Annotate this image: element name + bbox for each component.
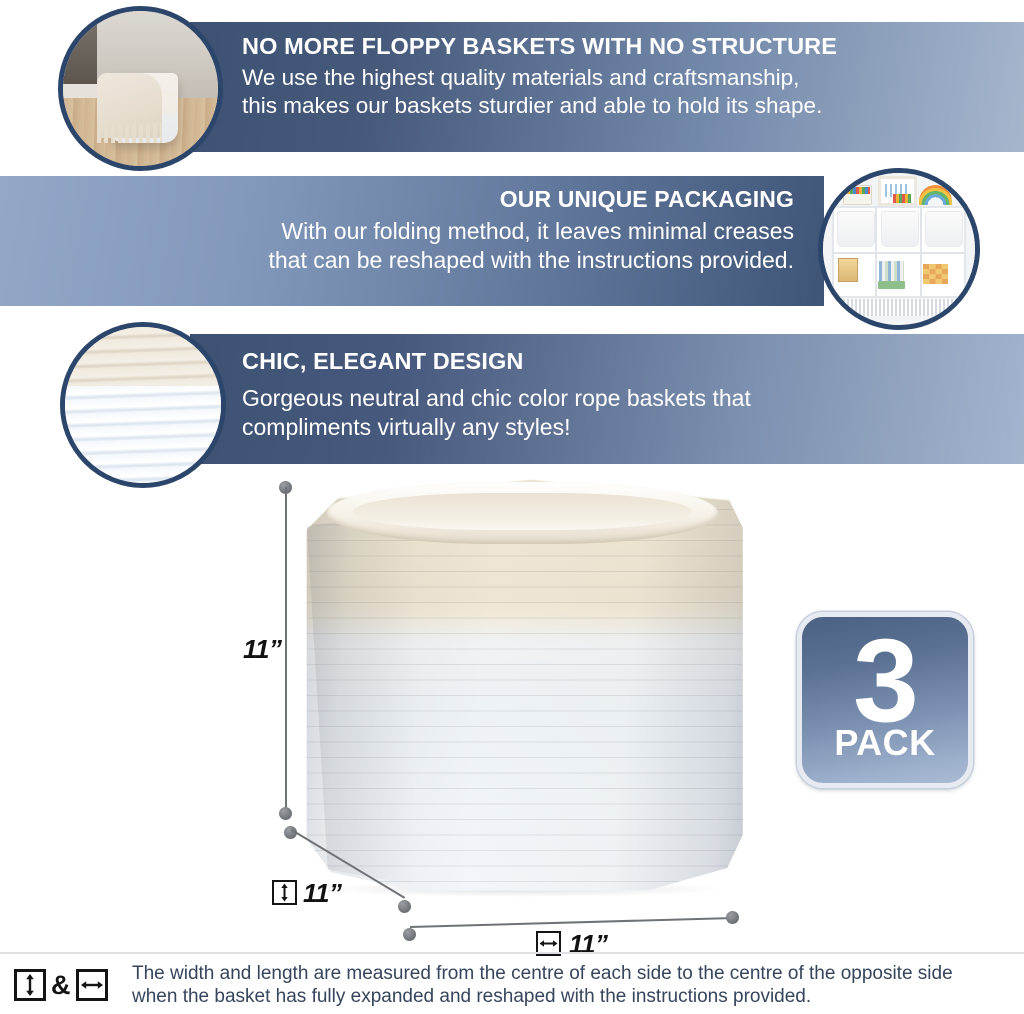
footer-icon-group: & xyxy=(14,964,122,1006)
photo-nursery-shelf xyxy=(818,168,980,330)
banner-title-structure: NO MORE FLOPPY BASKETS WITH NO STRUCTURE xyxy=(242,31,1008,61)
footer-text-line1: The width and length are measured from t… xyxy=(132,962,1012,985)
photo3-cream-rope-coils xyxy=(65,327,221,386)
footer-text-block: The width and length are measured from t… xyxy=(132,962,1012,1008)
feature-banner-structure: NO MORE FLOPPY BASKETS WITH NO STRUCTURE… xyxy=(190,22,1024,152)
photo2-shelf-divider-3 xyxy=(832,252,966,254)
photo2-wooden-toy xyxy=(838,258,858,282)
width-dim-dot-left xyxy=(403,928,416,941)
footer-width-icon xyxy=(76,969,108,1001)
photo1-blanket-fringe xyxy=(97,123,162,143)
footer-ampersand: & xyxy=(51,972,71,999)
photo-rope-texture xyxy=(60,322,226,488)
height-dim-dot-bottom xyxy=(279,807,292,820)
feature-banner-packaging: OUR UNIQUE PACKAGING With our folding me… xyxy=(0,176,824,306)
banner-body-structure-line1: We use the highest quality materials and… xyxy=(242,64,1008,92)
feature-banner-design: CHIC, ELEGANT DESIGN Gorgeous neutral an… xyxy=(190,334,1024,464)
photo2-building-blocks xyxy=(923,264,947,284)
footer-note: & The width and length are measured from… xyxy=(14,962,1014,1010)
footer-height-icon xyxy=(14,969,46,1001)
banner-title-packaging: OUR UNIQUE PACKAGING xyxy=(16,185,794,214)
footer-text-line2: when the basket has fully expanded and r… xyxy=(132,985,1012,1008)
photo2-peg-dolls xyxy=(893,194,911,203)
width-arrow-icon xyxy=(538,933,559,954)
photo2-basket-2 xyxy=(881,211,919,247)
width-dim-dot-right xyxy=(726,911,739,924)
photo1-doorway xyxy=(63,11,97,89)
footer-divider xyxy=(0,952,1024,954)
banner-body-packaging-line2: that can be reshaped with the instructio… xyxy=(16,246,794,275)
banner-body-structure-line2: this makes our baskets sturdier and able… xyxy=(242,92,1008,120)
photo3-blue-rope-coils xyxy=(65,386,221,483)
width-dim-line xyxy=(410,917,730,928)
photo-basket-with-throw xyxy=(58,6,223,171)
banner-body-packaging-line1: With our folding method, it leaves minim… xyxy=(16,217,794,246)
photo2-abacus-beads xyxy=(844,187,870,195)
pack-count-label: PACK xyxy=(834,725,935,761)
photo2-striped-rug xyxy=(829,299,969,316)
height-dim-line xyxy=(285,487,287,813)
depth-dim-dot-bottom xyxy=(398,900,411,913)
product-basket-image xyxy=(300,478,745,893)
photo2-basket-3 xyxy=(925,211,963,247)
depth-dim-label: 11” xyxy=(303,878,342,909)
banner-body-design-line1: Gorgeous neutral and chic color rope bas… xyxy=(242,384,1008,413)
pack-count-badge: 3 PACK xyxy=(797,612,973,788)
basket-opening xyxy=(353,493,691,530)
photo2-books xyxy=(879,261,903,281)
banner-title-design: CHIC, ELEGANT DESIGN xyxy=(242,346,1008,376)
photo2-basket-1 xyxy=(837,211,875,247)
pack-count-number: 3 xyxy=(853,633,917,730)
banner-body-design-line2: compliments virtually any styles! xyxy=(242,413,1008,442)
photo2-book-stack xyxy=(878,281,905,289)
depth-box-icon xyxy=(272,880,297,905)
height-dim-label: 11” xyxy=(243,634,282,665)
width-dim-label: 11” xyxy=(569,929,608,960)
depth-arrow-icon xyxy=(274,882,295,903)
